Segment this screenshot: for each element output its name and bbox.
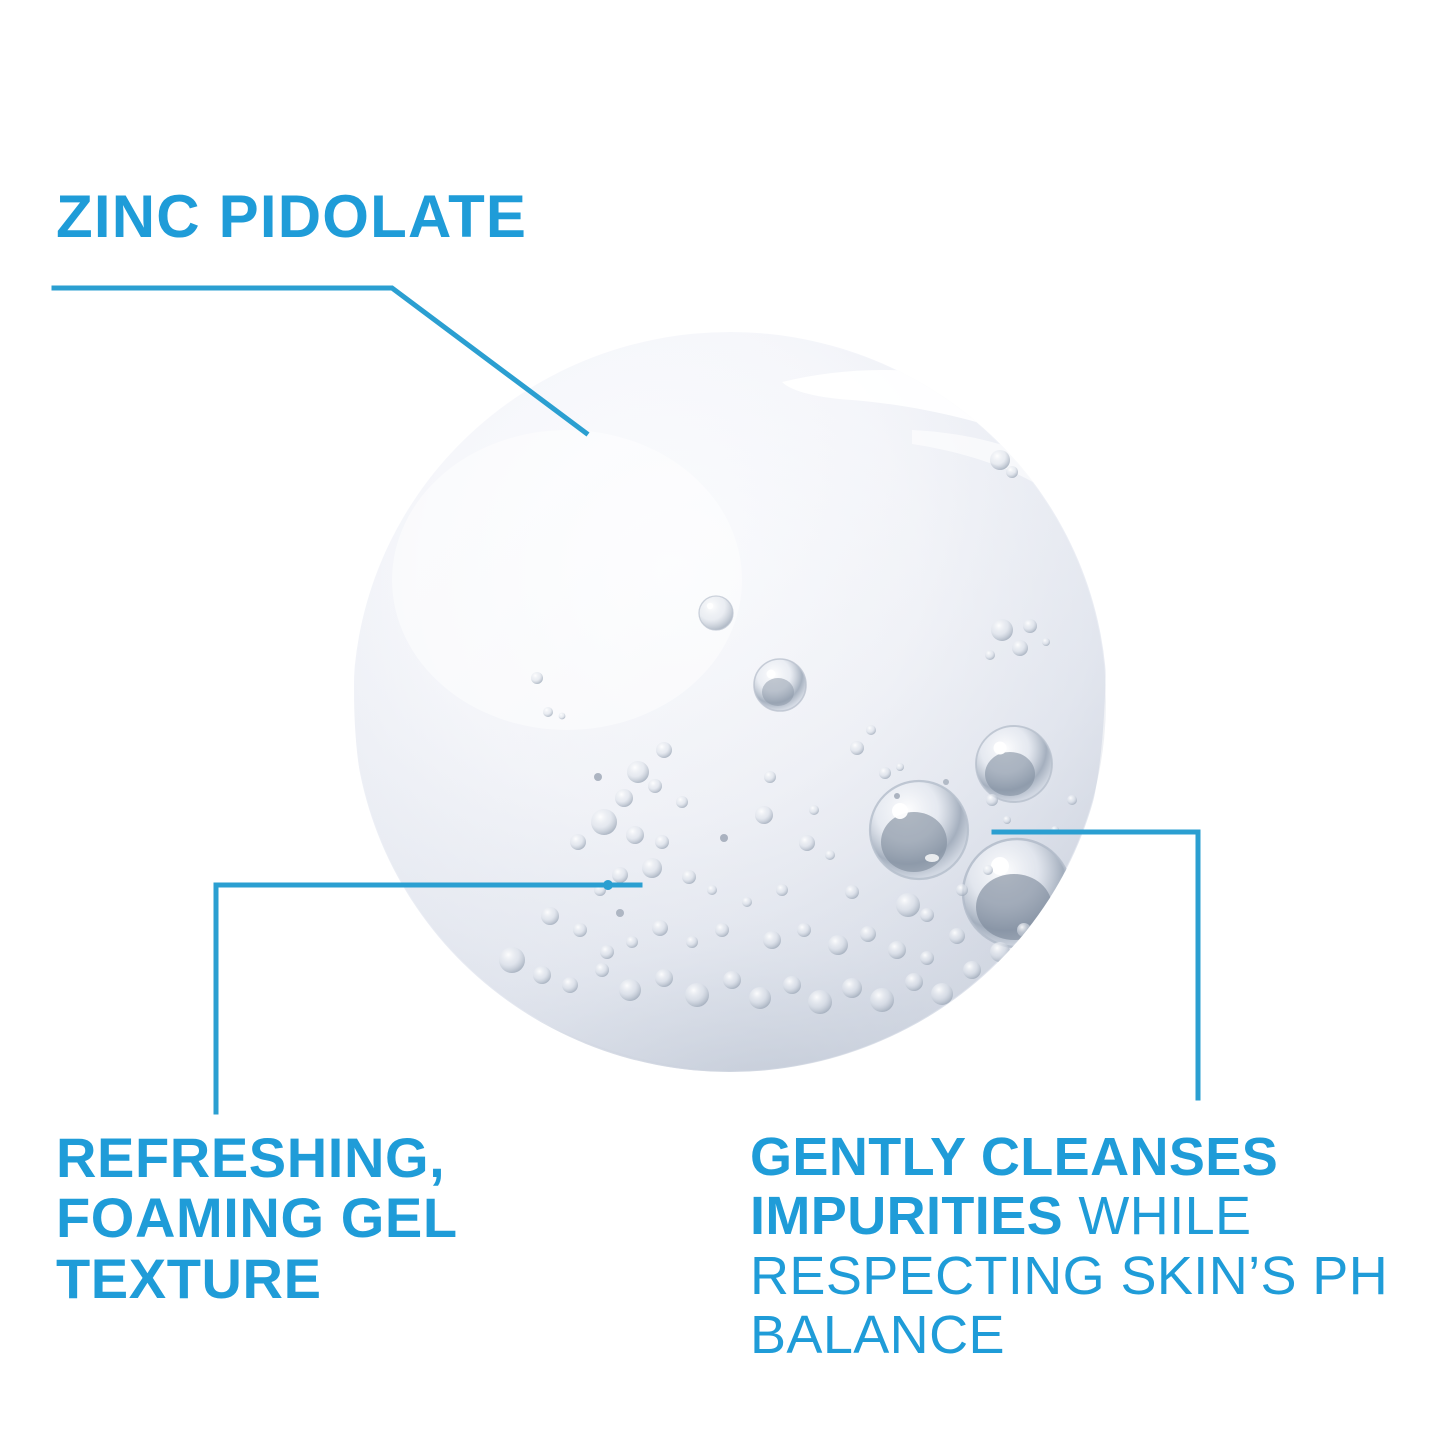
gel-droplet-graphic — [352, 330, 1108, 1074]
callout-gel-texture: REFRESHING, FOAMING GEL TEXTURE — [56, 1128, 458, 1309]
callout-zinc-pidolate: ZINC PIDOLATE — [56, 186, 527, 247]
callout-gently-cleanses: GENTLY CLEANSES IMPURITIES WHILE RESPECT… — [750, 1128, 1410, 1366]
gel-left-glow — [392, 430, 742, 730]
infographic-canvas: ZINC PIDOLATE REFRESHING, FOAMING GEL TE… — [0, 0, 1445, 1443]
gel-droplet — [352, 330, 1108, 1074]
gel-body — [352, 332, 1108, 1074]
